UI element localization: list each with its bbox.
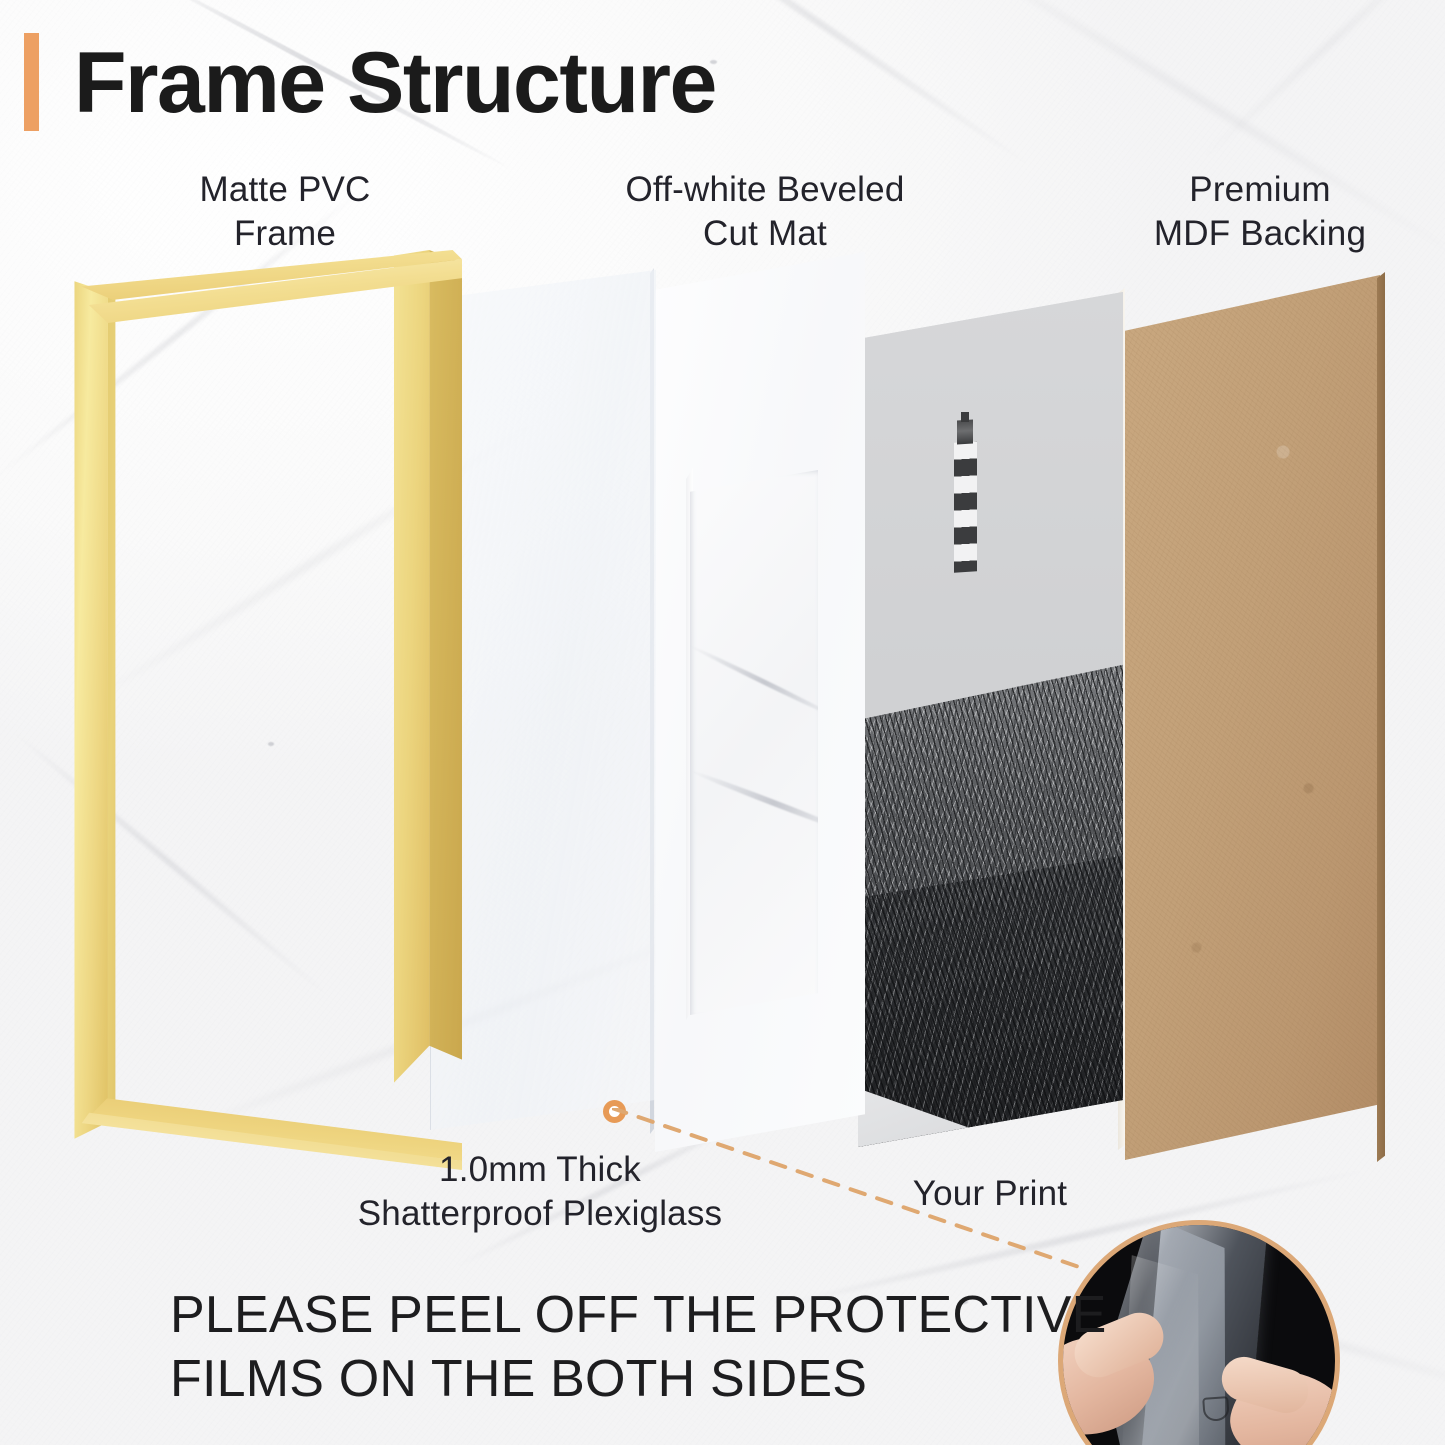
lighthouse-lantern-icon [957,420,973,445]
warning-line-2-prefix: FILMS ON THE [170,1350,550,1408]
mdf-backing-edge [1377,272,1385,1162]
layer-photo-print [858,292,1123,1147]
page-title: Frame Structure [74,34,716,133]
layer-pvc-frame [72,250,462,1170]
mat-window-opening [690,470,818,1015]
warning-line-1: PLEASE PEEL OFF THE PROTECTIVE [170,1283,1050,1347]
callout-premium-mdf-backing: Premium MDF Backing [1075,168,1445,256]
frame-left-rail [72,250,134,1170]
peel-warning-text: PLEASE PEEL OFF THE PROTECTIVE FILMS ON … [170,1283,1050,1412]
warning-highlight-text: BOTH SIDES [550,1350,867,1408]
plexiglass-marker-dot [603,1100,626,1123]
lighthouse-icon [954,441,977,572]
layer-mdf-backing [1125,275,1380,1160]
warning-highlight-wrap: BOTH SIDES [550,1347,867,1411]
callout-shatterproof-plexiglass: 1.0mm Thick Shatterproof Plexiglass [235,1148,845,1236]
layer-plexiglass [430,270,656,1130]
callout-your-print: Your Print [855,1172,1125,1216]
title-accent-bar [24,33,39,131]
lighthouse-cap-icon [961,412,969,422]
callout-matte-pvc-frame: Matte PVC Frame [105,168,465,256]
warning-line-2: FILMS ON THE BOTH SIDES [170,1347,1050,1411]
callout-off-white-beveled-cut-mat: Off-white Beveled Cut Mat [545,168,985,256]
infographic-canvas: Frame Structure Matte PVC Frame Off-whit… [0,0,1445,1445]
